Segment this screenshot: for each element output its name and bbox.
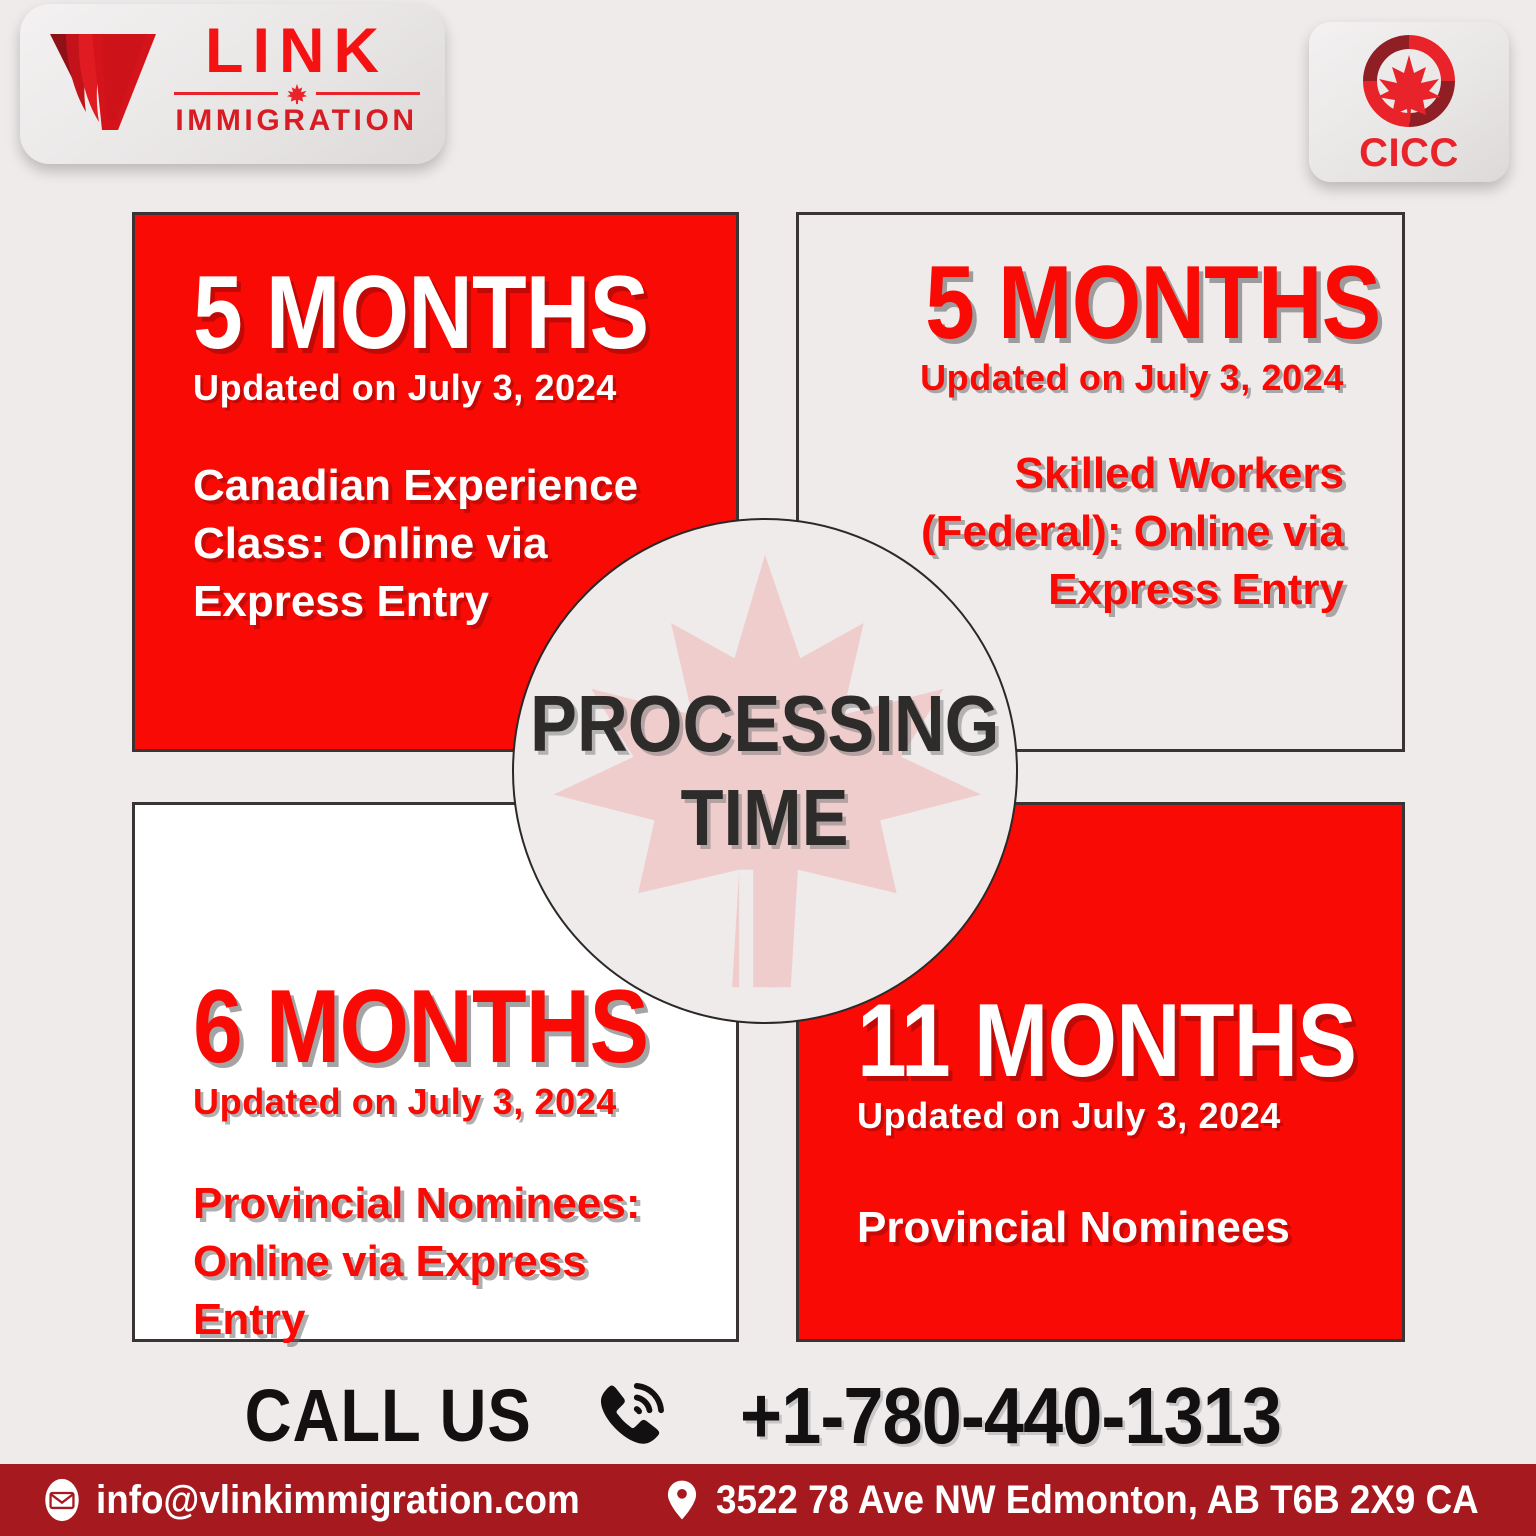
call-us-label: CALL US	[245, 1373, 532, 1458]
logo-word-immigration: IMMIGRATION	[175, 104, 417, 138]
call-us-row: CALL US +1-780-440-1313	[0, 1368, 1536, 1463]
phone-ring-icon	[594, 1379, 668, 1453]
phone-number[interactable]: +1-780-440-1313	[740, 1370, 1281, 1462]
envelope-icon	[42, 1478, 82, 1522]
card-updated-date: Updated on July 3, 2024	[857, 357, 1344, 399]
cicc-roundel-icon	[1359, 31, 1459, 131]
logo-word-link: LINK	[205, 22, 388, 82]
card-duration: 5 MONTHS	[925, 253, 1344, 355]
logo-divider	[174, 83, 420, 103]
v-mark-icon	[46, 26, 166, 134]
cicc-label: CICC	[1359, 133, 1459, 173]
processing-time-line-1: PROCESSING	[530, 677, 999, 771]
footer-email[interactable]: info@vlinkimmigration.com	[42, 1478, 622, 1523]
cicc-logo: CICC	[1309, 22, 1509, 182]
card-description: Provincial Nominees	[857, 1199, 1344, 1257]
footer-bar: info@vlinkimmigration.com 3522 78 Ave NW…	[0, 1464, 1536, 1536]
footer-address[interactable]: 3522 78 Ave NW Edmonton, AB T6B 2X9 CA	[662, 1478, 1536, 1523]
processing-time-badge: PROCESSING TIME	[512, 518, 1018, 1024]
card-updated-date: Updated on July 3, 2024	[193, 367, 678, 409]
card-description-line: Provincial Nominees:	[193, 1175, 678, 1233]
card-description-line: Canadian Experience	[193, 457, 678, 515]
card-updated-date: Updated on July 3, 2024	[193, 1081, 678, 1123]
maple-leaf-icon	[286, 83, 308, 105]
footer-address-text: 3522 78 Ave NW Edmonton, AB T6B 2X9 CA	[716, 1478, 1479, 1523]
card-description-line: Online via Express Entry	[193, 1233, 678, 1349]
card-duration: 5 MONTHS	[193, 263, 610, 365]
card-description: Provincial Nominees: Online via Express …	[193, 1175, 678, 1349]
processing-time-line-2: TIME	[681, 771, 849, 865]
footer-email-text: info@vlinkimmigration.com	[96, 1478, 580, 1523]
card-description-line: Provincial Nominees	[857, 1199, 1344, 1257]
card-description-line: Skilled Workers	[857, 445, 1344, 503]
card-duration: 11 MONTHS	[857, 991, 1276, 1093]
vlink-immigration-logo: LINK IMMIGRATION	[20, 4, 445, 164]
map-pin-icon	[662, 1478, 702, 1522]
card-updated-date: Updated on July 3, 2024	[857, 1095, 1344, 1137]
